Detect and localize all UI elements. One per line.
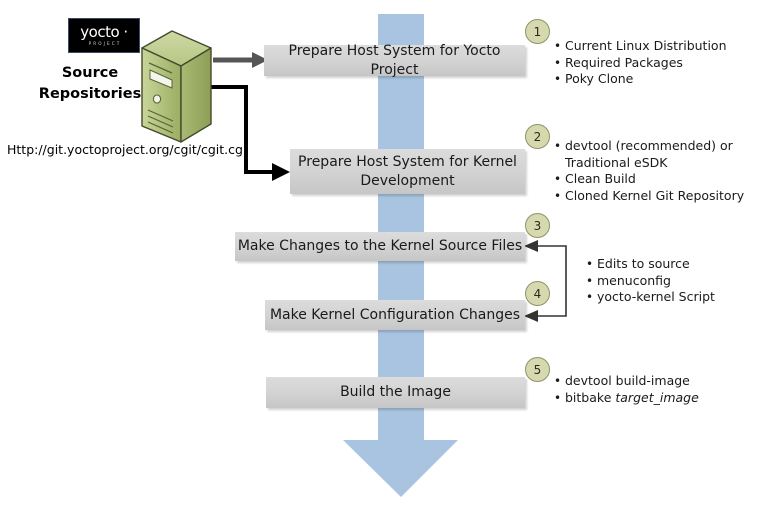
yocto-project-logo: yocto · PROJECT xyxy=(68,18,140,53)
list-item: Cloned Kernel Git Repository xyxy=(554,188,759,205)
list-item: Required Packages xyxy=(554,55,766,72)
step-number-2: 2 xyxy=(525,124,550,149)
list-item: Edits to source xyxy=(586,256,766,273)
yocto-logo-subtitle: PROJECT xyxy=(89,40,122,47)
list-item: devtool build-image xyxy=(554,373,754,390)
step-box-4: Make Kernel Configuration Changes xyxy=(265,300,525,330)
step-1-details: Current Linux Distribution Required Pack… xyxy=(554,38,766,88)
connector-server-to-step1 xyxy=(213,52,268,68)
list-item: devtool (recommended) or Traditional eSD… xyxy=(554,138,759,171)
bitbake-target-argument: target_image xyxy=(615,390,698,405)
source-repositories-label-line1: Source xyxy=(26,63,154,84)
connector-server-to-step2 xyxy=(211,87,290,181)
list-item: bitbake target_image xyxy=(554,390,754,407)
list-item: Clean Build xyxy=(554,171,759,188)
diagram-canvas: yocto · PROJECT Source Repositories Http… xyxy=(0,0,769,517)
step-5-details: devtool build-image bitbake target_image xyxy=(554,373,754,406)
list-item: Current Linux Distribution xyxy=(554,38,766,55)
bitbake-command-prefix: bitbake xyxy=(565,390,615,405)
step-box-5: Build the Image xyxy=(266,377,525,408)
steps-3-and-4-details: Edits to source menuconfig yocto-kernel … xyxy=(586,256,766,306)
step-number-4: 4 xyxy=(525,281,550,306)
source-repository-url: Http://git.yoctoproject.org/cgit/cgit.cg… xyxy=(7,142,246,157)
list-item: yocto-kernel Script xyxy=(586,289,766,306)
step-number-3: 3 xyxy=(525,213,550,238)
yocto-logo-mark: yocto · xyxy=(80,25,127,40)
step-number-1: 1 xyxy=(525,19,550,44)
source-repositories-label-line2: Repositories xyxy=(26,84,154,105)
step-number-5: 5 xyxy=(525,357,550,382)
list-item: menuconfig xyxy=(586,273,766,290)
step-box-3: Make Changes to the Kernel Source Files xyxy=(235,232,525,261)
step-box-1: Prepare Host System for Yocto Project xyxy=(264,45,525,76)
step-box-2: Prepare Host System for Kernel Developme… xyxy=(290,149,525,194)
step-2-details: devtool (recommended) or Traditional eSD… xyxy=(554,138,759,204)
list-item: Poky Clone xyxy=(554,71,766,88)
bracket-steps-3-4 xyxy=(524,240,566,322)
source-repositories-label: Source Repositories xyxy=(26,63,154,105)
